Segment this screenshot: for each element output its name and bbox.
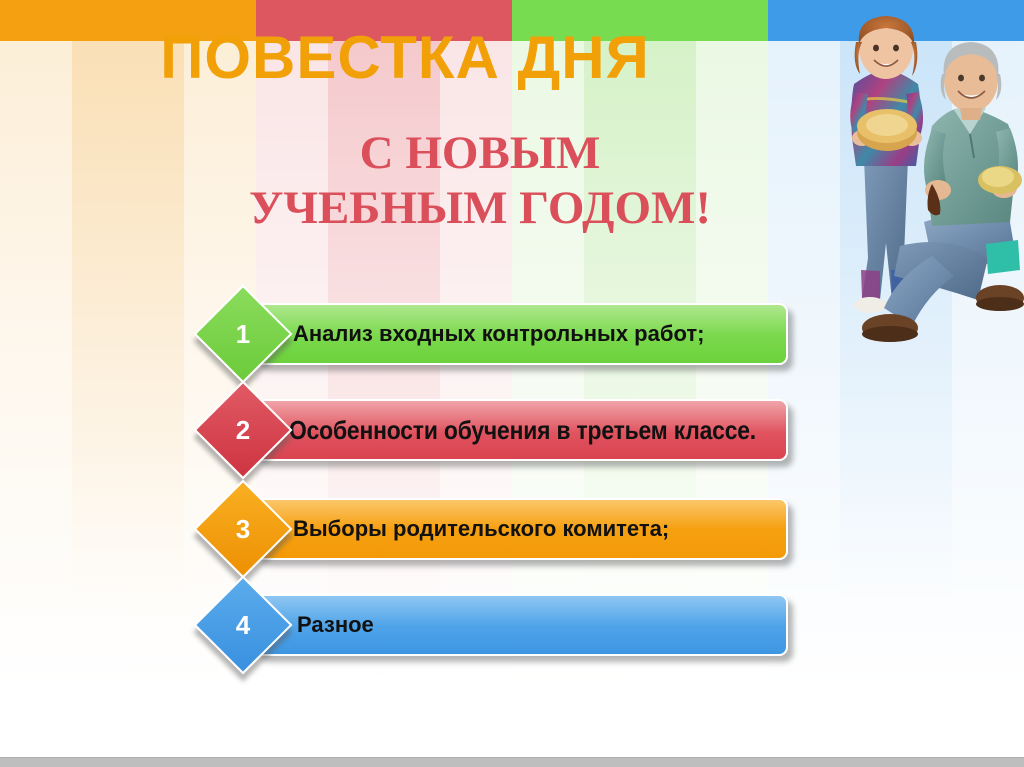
- band-inner-orange: [72, 41, 184, 601]
- agenda-item-3[interactable]: Выборы родительского комитета; 3: [208, 492, 798, 568]
- agenda-item-1-bar[interactable]: Анализ входных контрольных работ;: [255, 303, 788, 365]
- family-photo: [828, 8, 1024, 380]
- agenda-item-2-label: Особенности обучения в третьем классе.: [289, 415, 756, 446]
- agenda-item-2-diamond-icon: [194, 381, 293, 480]
- slide-title: ПОВЕСТКА ДНЯ: [0, 26, 810, 89]
- agenda-item-3-label: Выборы родительского комитета;: [293, 516, 669, 542]
- agenda-item-4-diamond-icon: [194, 576, 293, 675]
- agenda-item-4-bar[interactable]: Разное: [255, 594, 788, 656]
- agenda-item-1-diamond-icon: [194, 285, 293, 384]
- agenda-item-2-bar[interactable]: Особенности обучения в третьем классе.: [255, 399, 788, 461]
- agenda-item-3-diamond-icon: [194, 480, 293, 579]
- agenda-item-3-bar[interactable]: Выборы родительского комитета;: [255, 498, 788, 560]
- presentation-slide: ПОВЕСТКА ДНЯ С НОВЫМ УЧЕБНЫМ ГОДОМ! Анал…: [0, 0, 1024, 767]
- viewer-bottom-bar: [0, 757, 1024, 767]
- slide-subtitle-line-2: УЧЕБНЫМ ГОДОМ!: [160, 181, 800, 236]
- slide-subtitle: С НОВЫМ УЧЕБНЫМ ГОДОМ!: [160, 126, 800, 237]
- agenda-item-4[interactable]: Разное 4: [208, 588, 798, 664]
- agenda-item-1[interactable]: Анализ входных контрольных работ; 1: [208, 297, 798, 373]
- agenda-item-2[interactable]: Особенности обучения в третьем классе. 2: [208, 393, 798, 469]
- slide-subtitle-line-1: С НОВЫМ: [160, 126, 800, 181]
- agenda-item-1-label: Анализ входных контрольных работ;: [293, 321, 704, 347]
- agenda-item-4-label: Разное: [297, 612, 374, 638]
